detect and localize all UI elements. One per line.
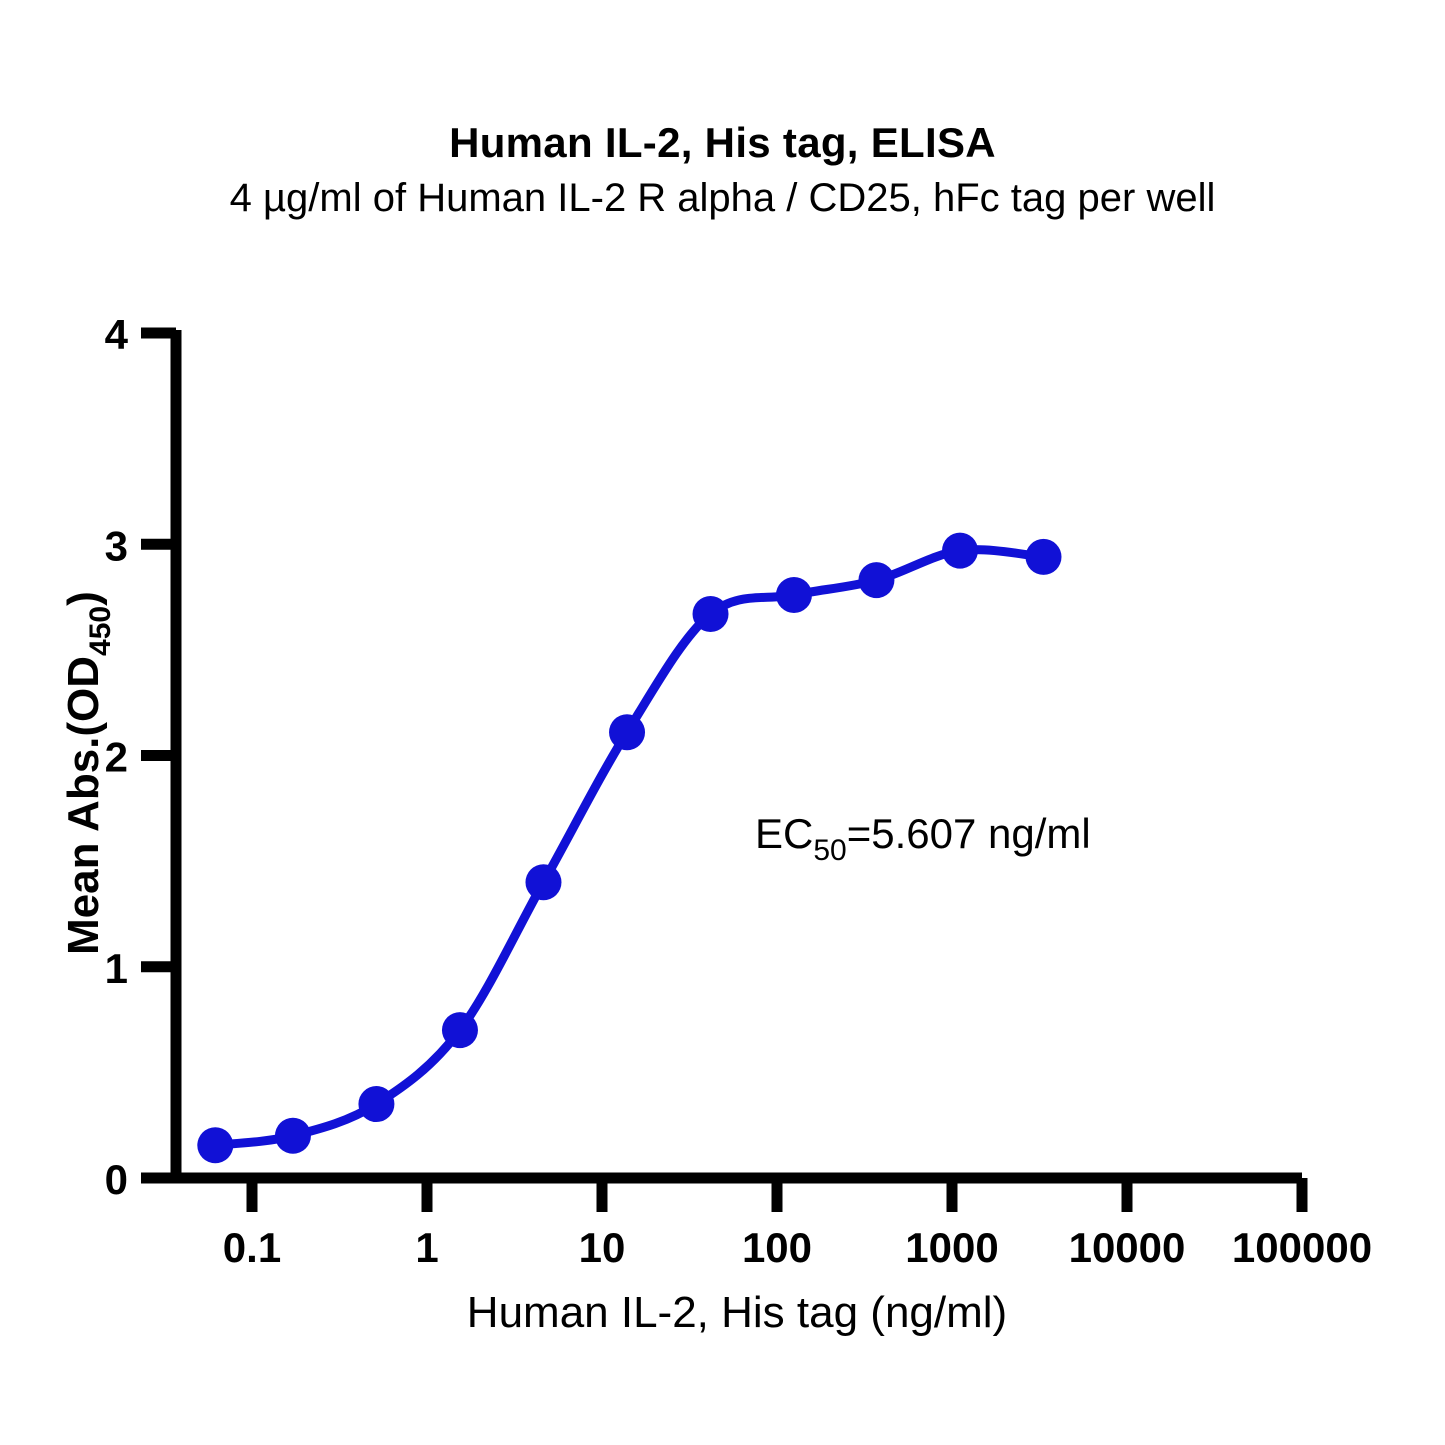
y-tick-label: 1	[105, 945, 128, 992]
x-tick-label: 10000	[1069, 1224, 1186, 1271]
ec50-subscript: 50	[813, 834, 846, 867]
data-point	[609, 714, 645, 750]
data-point	[858, 562, 894, 598]
y-tick-label: 2	[105, 734, 128, 781]
y-axis-title-close: )	[59, 591, 108, 606]
x-tick-label: 1000	[905, 1224, 998, 1271]
x-tick-label: 1	[415, 1224, 438, 1271]
y-tick-label: 0	[105, 1156, 128, 1203]
y-tick-label: 3	[105, 522, 128, 569]
x-tick-label: 100	[742, 1224, 812, 1271]
x-tick-label: 10	[579, 1224, 626, 1271]
y-axis-title-main: Mean Abs.(OD	[59, 656, 108, 955]
x-axis-title: Human IL-2, His tag (ng/ml)	[467, 1288, 1007, 1337]
x-axis-tick-labels: 0.1110100100010000100000	[223, 1224, 1372, 1271]
x-tick-label: 0.1	[223, 1224, 281, 1271]
data-point	[942, 533, 978, 569]
data-point	[275, 1118, 311, 1154]
ec50-prefix: EC	[755, 810, 813, 857]
y-axis-title-subscript: 450	[84, 606, 117, 656]
data-point	[197, 1127, 233, 1163]
ec50-value: =5.607 ng/ml	[847, 810, 1091, 857]
dose-response-plot: 01234 0.1110100100010000100000 Mean Abs.…	[0, 0, 1445, 1445]
y-tick-label: 4	[105, 311, 129, 358]
x-tick-label: 100000	[1232, 1224, 1372, 1271]
y-axis-tick-labels: 01234	[105, 311, 129, 1203]
ec50-annotation: EC50=5.607 ng/ml	[755, 810, 1091, 867]
chart-figure: Human IL-2, His tag, ELISA 4 µg/ml of Hu…	[0, 0, 1445, 1445]
data-point	[693, 596, 729, 632]
data-point	[1026, 539, 1062, 575]
data-point	[442, 1012, 478, 1048]
data-point	[358, 1086, 394, 1122]
data-point	[525, 864, 561, 900]
data-point	[776, 577, 812, 613]
